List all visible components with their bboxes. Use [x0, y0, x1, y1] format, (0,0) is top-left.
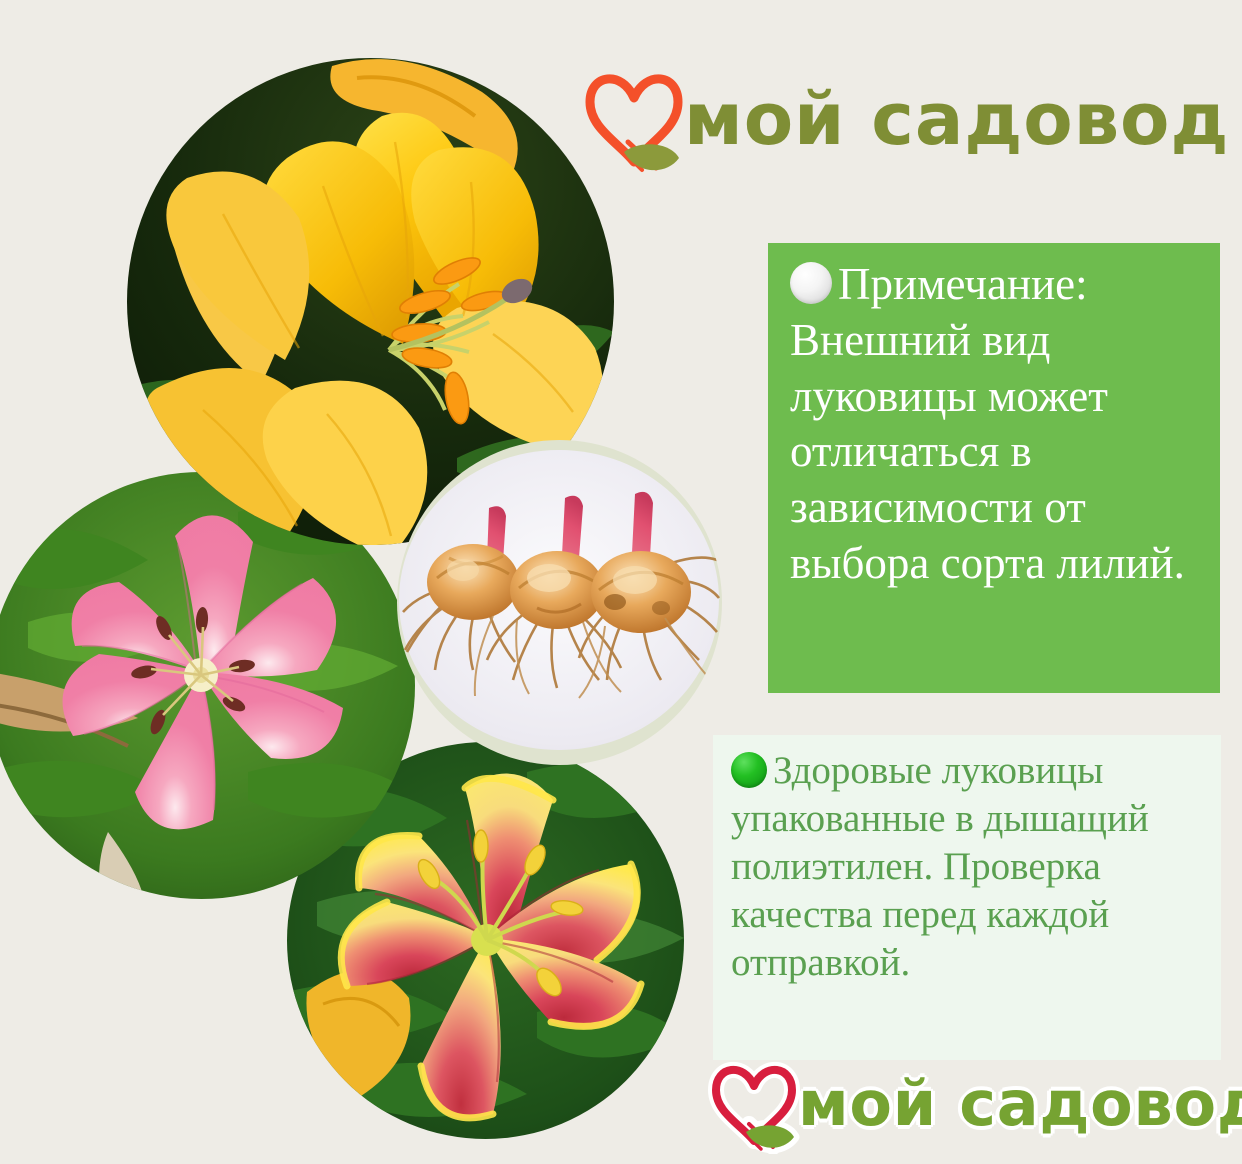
quality-text: Здоровые луковицы упакованные в дышащий …	[731, 747, 1205, 987]
note-text: Примечание: Внешний вид луковицы может о…	[790, 257, 1202, 592]
heart-leaf-icon	[578, 58, 690, 176]
header-logo-text: мой садовод	[684, 83, 1229, 155]
photo-lily-bulbs	[397, 440, 722, 765]
note-body: Внешний вид луковицы может отличаться в …	[790, 315, 1185, 588]
heart-leaf-icon	[706, 1052, 802, 1154]
header-logo: мой садовод	[578, 58, 1229, 176]
quality-body: Здоровые луковицы упакованные в дышащий …	[731, 749, 1149, 984]
note-heading: Примечание:	[838, 259, 1088, 309]
poster-canvas: мой садовод Примечание: Внешний вид луко…	[0, 0, 1242, 1164]
note-callout: Примечание: Внешний вид луковицы может о…	[768, 243, 1220, 693]
green-circle-icon	[731, 752, 767, 788]
footer-logo-text: мой садовод	[798, 1073, 1242, 1135]
quality-callout: Здоровые луковицы упакованные в дышащий …	[713, 735, 1221, 1060]
footer-logo: мой садовод	[706, 1052, 1242, 1154]
white-circle-icon	[790, 262, 832, 304]
